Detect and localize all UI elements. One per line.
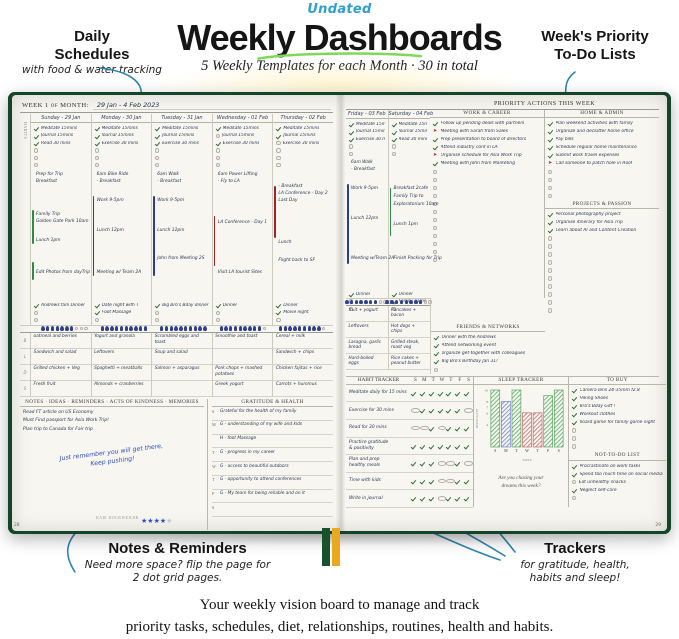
- check-icon[interactable]: [455, 461, 464, 466]
- not-to-do-item-row[interactable]: Spend too much time on social media: [572, 470, 663, 478]
- empty-circle-icon[interactable]: [276, 318, 280, 322]
- project-item-row[interactable]: [548, 266, 656, 274]
- empty-circle-icon[interactable]: [572, 480, 576, 484]
- meal-cell[interactable]: Grilled steak, roast veg: [389, 338, 431, 354]
- meal-cell[interactable]: [152, 381, 212, 397]
- habit-tracker-ticks[interactable]: [411, 391, 473, 396]
- empty-circle-icon[interactable]: [216, 311, 220, 315]
- schedule-event[interactable]: Prep for Trip: [36, 172, 63, 178]
- check-icon[interactable]: [572, 396, 577, 401]
- empty-circle-icon[interactable]: [34, 163, 38, 167]
- work-career-item-row[interactable]: Meeting with John from Marketing: [433, 160, 541, 168]
- check-icon[interactable]: [433, 121, 438, 126]
- water-drop-empty-icon[interactable]: [322, 327, 325, 331]
- day-header[interactable]: Tuesday - 31 Jan: [152, 114, 212, 123]
- schedule-event[interactable]: Lunch 12pm: [97, 228, 124, 234]
- water-drop-icon[interactable]: [129, 326, 132, 330]
- empty-circle-icon[interactable]: [548, 252, 552, 256]
- habit-row[interactable]: Exercise 30 mins: [216, 140, 270, 147]
- star-rating[interactable]: ★★★★★: [141, 508, 172, 527]
- day-schedule[interactable]: Prep for TripBreakfastFamily TripGolden …: [31, 170, 91, 301]
- to-buy-item-row[interactable]: [572, 434, 663, 442]
- check-icon[interactable]: [572, 404, 577, 409]
- empty-circle-icon[interactable]: [216, 148, 220, 152]
- water-drop-icon[interactable]: [359, 300, 362, 304]
- meal-cell[interactable]: Smoothie and toast: [213, 333, 273, 349]
- water-drop-icon[interactable]: [115, 326, 118, 330]
- project-item-row[interactable]: Learn about AI and Content Creation: [548, 226, 656, 234]
- habit-tracker-row[interactable]: Read for 30 mins: [346, 420, 473, 438]
- check-icon[interactable]: [392, 129, 397, 134]
- evening-items[interactable]: Dinner: [213, 301, 273, 325]
- empty-circle-icon[interactable]: [433, 194, 437, 198]
- habit-row[interactable]: [392, 143, 428, 150]
- empty-circle-icon[interactable]: [433, 210, 437, 214]
- schedule-event[interactable]: LA Conference - Day 2: [278, 191, 327, 197]
- water-drop-icon[interactable]: [239, 326, 242, 330]
- check-icon[interactable]: [572, 388, 577, 393]
- check-icon[interactable]: [548, 137, 553, 142]
- habit-row[interactable]: [276, 147, 330, 154]
- empty-circle-icon[interactable]: [548, 186, 552, 190]
- note-line[interactable]: Read FT article on US Economy: [23, 409, 202, 417]
- day-header[interactable]: Saturday - 04 Feb: [389, 110, 431, 119]
- check-icon[interactable]: [429, 496, 438, 501]
- not-to-do-item-row[interactable]: Neglect self-care: [572, 486, 663, 494]
- empty-circle-icon[interactable]: [572, 444, 576, 448]
- home-admin-item-row[interactable]: Submit work travel expenses: [548, 152, 656, 160]
- empty-circle-icon[interactable]: [548, 236, 552, 240]
- check-icon[interactable]: [455, 426, 464, 431]
- water-drop-icon[interactable]: [105, 326, 108, 330]
- evening-row[interactable]: [95, 316, 149, 323]
- water-drop-icon[interactable]: [179, 326, 182, 330]
- water-drop-icon[interactable]: [220, 326, 223, 330]
- day-habits[interactable]: Meditate 15minsJournal 15minsExercise 30…: [92, 123, 152, 170]
- check-icon[interactable]: [434, 343, 439, 348]
- check-icon[interactable]: [464, 443, 473, 448]
- habit-row[interactable]: Meditate 15mins: [34, 125, 88, 132]
- meal-cell[interactable]: Yogurt and granola: [92, 333, 152, 349]
- habit-tick-cell[interactable]: [464, 408, 473, 413]
- water-drop-icon[interactable]: [139, 326, 142, 330]
- water-drop-icon[interactable]: [258, 326, 261, 330]
- evening-row[interactable]: [155, 316, 209, 323]
- empty-circle-icon[interactable]: [34, 318, 38, 322]
- gratitude-row[interactable]: H - foot Massage: [212, 435, 333, 449]
- check-icon[interactable]: [464, 479, 473, 484]
- habit-tracker-ticks[interactable]: [411, 426, 473, 431]
- check-icon[interactable]: [429, 443, 438, 448]
- schedule-event[interactable]: - Breakfast: [278, 184, 302, 190]
- habit-tick-cell[interactable]: [446, 426, 455, 431]
- habit-row[interactable]: Journal 15mins: [392, 128, 428, 135]
- habit-tick-cell[interactable]: [464, 461, 473, 466]
- check-icon[interactable]: [95, 310, 100, 315]
- habit-tick-cell[interactable]: [464, 443, 473, 448]
- empty-circle-icon[interactable]: [548, 276, 552, 280]
- habit-tick-cell[interactable]: [429, 443, 438, 448]
- meal-cell[interactable]: Leftovers: [92, 349, 152, 365]
- water-tracker-row-left[interactable]: [20, 325, 333, 333]
- schedule-event[interactable]: Lunch 12pm: [157, 228, 184, 234]
- day-schedule[interactable]: 6am Bike Ride- BreakfastWork 9-5pmLunch …: [92, 170, 152, 301]
- work-career-item-row[interactable]: [433, 200, 541, 208]
- evening-row[interactable]: [155, 309, 209, 316]
- check-icon[interactable]: [392, 122, 397, 127]
- habit-row[interactable]: Journal 15mins: [276, 132, 330, 139]
- check-icon[interactable]: [411, 461, 420, 466]
- evening-row[interactable]: [34, 316, 88, 323]
- work-career-item-row[interactable]: [433, 208, 541, 216]
- project-item-row[interactable]: [548, 282, 656, 290]
- water-drop-icon[interactable]: [110, 326, 113, 330]
- evening-row[interactable]: Big Bro's Bday dinner: [155, 302, 209, 309]
- empty-circle-icon[interactable]: [216, 156, 220, 160]
- water-tracker-row-right[interactable]: [346, 298, 430, 306]
- empty-circle-icon[interactable]: [433, 234, 437, 238]
- schedule-event[interactable]: Flight back to SF: [278, 258, 315, 264]
- habit-tick-cell[interactable]: [429, 391, 438, 396]
- water-drop-icon[interactable]: [284, 326, 287, 330]
- habit-tracker-row[interactable]: Exercise for 30 mins: [346, 402, 473, 420]
- water-drop-icon[interactable]: [41, 326, 44, 330]
- habit-tick-cell[interactable]: [455, 408, 464, 413]
- meal-cell[interactable]: Grilled chicken + Veg: [31, 365, 91, 381]
- work-career-items[interactable]: Follow up pending deals with partners➤Me…: [430, 118, 544, 264]
- habit-row[interactable]: Exercise 30 mins: [276, 140, 330, 147]
- water-cell[interactable]: [349, 300, 388, 304]
- water-drop-icon[interactable]: [414, 300, 417, 304]
- work-career-item-row[interactable]: [433, 216, 541, 224]
- home-admin-item-row[interactable]: Organize and declutter home office: [548, 128, 656, 136]
- habit-row[interactable]: [216, 154, 270, 161]
- meal-cell[interactable]: Pork chops + mashed potatoes: [213, 365, 273, 381]
- day-header[interactable]: Monday - 30 Jan: [92, 114, 152, 123]
- habit-tracker-ticks[interactable]: [411, 479, 473, 484]
- forward-arrow-icon[interactable]: ➤: [433, 129, 438, 134]
- habit-row[interactable]: Read 30 mins: [392, 136, 428, 143]
- not-to-do-item-row[interactable]: Eat unhealthy snacks: [572, 478, 663, 486]
- water-drop-icon[interactable]: [198, 326, 201, 330]
- empty-circle-icon[interactable]: [216, 163, 220, 167]
- project-item-row[interactable]: Personal photography project: [548, 210, 656, 218]
- empty-circle-icon[interactable]: [548, 170, 552, 174]
- work-career-item-row[interactable]: Follow up pending deals with partners: [433, 120, 541, 128]
- meal-cell[interactable]: Carrots + hummus: [273, 381, 333, 397]
- not-to-do-item-row[interactable]: [572, 494, 663, 502]
- water-drop-icon[interactable]: [70, 326, 73, 330]
- check-icon[interactable]: [464, 391, 473, 396]
- habit-tracker-ticks[interactable]: [411, 461, 473, 466]
- check-icon[interactable]: [276, 303, 281, 308]
- check-icon[interactable]: [349, 292, 354, 297]
- evening-row[interactable]: Movie night: [276, 309, 330, 316]
- habit-row[interactable]: Journal 15mins: [349, 128, 385, 135]
- schedule-event[interactable]: Finish Packing for Trip: [394, 256, 442, 262]
- home-admin-item-row[interactable]: [548, 192, 656, 200]
- home-admin-item-row[interactable]: [548, 176, 656, 184]
- habit-tick-cell[interactable]: [464, 479, 473, 484]
- habit-row[interactable]: [276, 161, 330, 168]
- water-drop-icon[interactable]: [125, 326, 128, 330]
- water-cell[interactable]: [273, 326, 331, 330]
- check-icon[interactable]: [349, 137, 354, 142]
- empty-circle-icon[interactable]: [572, 428, 576, 432]
- check-icon[interactable]: [392, 137, 397, 142]
- empty-circle-icon[interactable]: [548, 268, 552, 272]
- evening-items[interactable]: Big Bro's Bday dinner: [152, 301, 212, 325]
- habit-row[interactable]: [276, 154, 330, 161]
- schedule-event[interactable]: Lunch: [278, 240, 291, 246]
- schedule-event[interactable]: Lunch 1pm: [36, 238, 60, 244]
- meal-cell[interactable]: Sandwich and salad: [31, 349, 91, 365]
- water-drop-empty-icon[interactable]: [424, 300, 427, 304]
- gratitude-row[interactable]: SGrateful for the health of my family: [212, 407, 333, 421]
- habit-row[interactable]: Journal 15mins: [34, 132, 88, 139]
- water-cell[interactable]: [389, 300, 428, 304]
- note-line[interactable]: Plan trip to Canada for Fair trip: [23, 426, 202, 434]
- schedule-event[interactable]: 6am Bike Ride: [97, 172, 129, 178]
- empty-circle-icon[interactable]: [95, 148, 99, 152]
- water-drop-icon[interactable]: [374, 300, 377, 304]
- habit-tick-cell[interactable]: [420, 479, 429, 484]
- day-schedule[interactable]: 6am Walk- BreakfastWork 9-5pmLunch 12pmM…: [346, 158, 388, 289]
- habit-row[interactable]: Read 30 mins: [34, 140, 88, 147]
- meal-cell[interactable]: Almonds + cranberries: [92, 381, 152, 397]
- friends-item-row[interactable]: Dinner with the Andrews: [434, 334, 542, 342]
- check-icon[interactable]: [155, 303, 160, 308]
- water-drop-icon[interactable]: [409, 300, 412, 304]
- habit-tick-cell[interactable]: [411, 443, 420, 448]
- check-icon[interactable]: [155, 133, 160, 138]
- habit-row[interactable]: Meditate 15mins: [349, 121, 385, 128]
- check-icon[interactable]: [572, 412, 577, 417]
- evening-row[interactable]: Dinner: [216, 302, 270, 309]
- water-drop-icon[interactable]: [405, 300, 408, 304]
- empty-circle-icon[interactable]: [433, 170, 437, 174]
- check-icon[interactable]: [446, 426, 455, 431]
- check-icon[interactable]: [429, 391, 438, 396]
- empty-circle-icon[interactable]: [155, 156, 159, 160]
- forward-arrow-icon[interactable]: ➤: [433, 153, 438, 158]
- work-career-item-row[interactable]: [433, 248, 541, 256]
- to-buy-items[interactable]: Camera lens 24-35mm f2.8Hiking ShoesBro'…: [569, 385, 666, 451]
- water-cell[interactable]: [214, 326, 272, 330]
- work-career-item-row[interactable]: ➤Organise schedule for Asia Work Trip: [433, 152, 541, 160]
- meal-cell[interactable]: Scrambled eggs and toast: [152, 333, 212, 349]
- day-schedule[interactable]: - BreakfastLA Conference - Day 2Last Day…: [273, 170, 333, 301]
- habit-tick-cell[interactable]: [438, 479, 447, 484]
- check-icon[interactable]: [392, 292, 397, 297]
- empty-circle-icon[interactable]: [392, 152, 396, 156]
- empty-circle-icon[interactable]: [95, 156, 99, 160]
- water-drop-icon[interactable]: [308, 326, 311, 330]
- check-icon[interactable]: [216, 303, 221, 308]
- day-schedule[interactable]: Breakfast 2cafeFamily Trip toExploratori…: [389, 158, 431, 289]
- meal-cell[interactable]: oatmeal and berries: [31, 333, 91, 349]
- empty-circle-icon[interactable]: [548, 244, 552, 248]
- check-icon[interactable]: [34, 133, 39, 138]
- gratitude-row[interactable]: TG - opportunity to attend conferences: [212, 476, 333, 490]
- habit-tick-cell[interactable]: [420, 443, 429, 448]
- day-schedule[interactable]: 6am Power Lifting- Fly to LALA Conferenc…: [213, 170, 273, 301]
- habit-tick-cell[interactable]: [411, 408, 420, 413]
- habit-row[interactable]: Exercise 30 mins: [95, 140, 149, 147]
- evening-row[interactable]: [216, 316, 270, 323]
- meal-cell[interactable]: Sandwich + chips: [273, 349, 333, 365]
- schedule-event[interactable]: 6am Walk: [157, 172, 179, 178]
- habit-tick-cell[interactable]: [429, 479, 438, 484]
- schedule-event[interactable]: Family Trip to: [394, 194, 424, 200]
- empty-circle-icon[interactable]: [548, 292, 552, 296]
- work-career-item-row[interactable]: [433, 192, 541, 200]
- empty-circle-icon[interactable]: [34, 148, 38, 152]
- meal-cell[interactable]: Chicken fajitas + rice: [273, 365, 333, 381]
- water-drop-icon[interactable]: [65, 326, 68, 330]
- habit-row[interactable]: [349, 150, 385, 157]
- project-item-row[interactable]: [548, 250, 656, 258]
- check-icon[interactable]: [95, 126, 100, 131]
- habit-row[interactable]: Meditate 15mins: [276, 125, 330, 132]
- to-buy-item-row[interactable]: [572, 426, 663, 434]
- habit-row[interactable]: [155, 147, 209, 154]
- gratitude-row[interactable]: TG - progress in my career: [212, 448, 333, 462]
- day-habits[interactable]: Meditate 15minsJournal 15minsRead 30 min…: [389, 119, 431, 158]
- habit-row[interactable]: Journal 15mins: [95, 132, 149, 139]
- habit-row[interactable]: [155, 154, 209, 161]
- work-career-item-row[interactable]: Prep presentation to board of directors: [433, 136, 541, 144]
- day-header[interactable]: Wednesday - 01 Feb: [213, 114, 273, 123]
- home-admin-item-row[interactable]: [548, 168, 656, 176]
- schedule-event[interactable]: Meeting w/ Team 2A: [97, 270, 142, 276]
- habit-tick-cell[interactable]: [420, 496, 429, 501]
- check-icon[interactable]: [433, 137, 438, 142]
- evening-row[interactable]: Dinner: [392, 290, 428, 297]
- habit-row[interactable]: [392, 150, 428, 157]
- habit-tracker-rows[interactable]: Meditate daily for 15 minsExercise for 3…: [346, 385, 473, 508]
- meal-cell[interactable]: Lasagna, garlic bread: [346, 338, 388, 354]
- habit-tracker-ticks[interactable]: [411, 408, 473, 413]
- check-icon[interactable]: [95, 133, 100, 138]
- empty-circle-icon[interactable]: [95, 318, 99, 322]
- friends-item-row[interactable]: Attend networking event: [434, 342, 542, 350]
- day-header[interactable]: Thursday - 02 Feb: [273, 114, 333, 123]
- habit-row[interactable]: [216, 161, 270, 168]
- check-icon[interactable]: [572, 488, 577, 493]
- home-admin-item-row[interactable]: ➤Call someone to patch hole in Roof: [548, 160, 656, 168]
- empty-circle-icon[interactable]: [433, 218, 437, 222]
- schedule-event[interactable]: Golden Gate Park 10am: [36, 219, 89, 225]
- project-item-row[interactable]: Organise itinerary for Asia Trip: [548, 218, 656, 226]
- water-drop-empty-icon[interactable]: [263, 327, 266, 331]
- habit-tick-cell[interactable]: [464, 391, 473, 396]
- water-drop-icon[interactable]: [288, 326, 291, 330]
- water-drop-icon[interactable]: [298, 326, 301, 330]
- empty-circle-icon[interactable]: [276, 141, 280, 145]
- empty-circle-icon[interactable]: [464, 461, 473, 465]
- to-buy-item-row[interactable]: [572, 442, 663, 450]
- habit-tick-cell[interactable]: [411, 496, 420, 501]
- work-career-item-row[interactable]: ➤Meeting with Sarah from Sales: [433, 128, 541, 136]
- meal-cell[interactable]: Greek yogurt: [213, 381, 273, 397]
- water-drop-icon[interactable]: [120, 326, 123, 330]
- schedule-event[interactable]: Lunch 12pm: [351, 216, 378, 222]
- habit-tick-cell[interactable]: [429, 408, 438, 413]
- gratitude-text[interactable]: H - foot Massage: [220, 436, 256, 442]
- empty-circle-icon[interactable]: [155, 163, 159, 167]
- schedule-event[interactable]: - Breakfast: [351, 167, 375, 173]
- habit-row[interactable]: Meditate 15mins: [216, 125, 270, 132]
- habit-tick-cell[interactable]: [455, 391, 464, 396]
- schedule-event[interactable]: Last Day: [278, 198, 297, 204]
- gratitude-text[interactable]: Grateful for the health of my family: [220, 409, 296, 415]
- check-icon[interactable]: [276, 126, 281, 131]
- project-item-row[interactable]: [548, 258, 656, 266]
- check-icon[interactable]: [155, 141, 160, 146]
- check-icon[interactable]: [572, 472, 577, 477]
- check-icon[interactable]: [420, 461, 429, 466]
- water-drop-icon[interactable]: [189, 326, 192, 330]
- empty-circle-icon[interactable]: [349, 152, 353, 156]
- to-buy-item-row[interactable]: Workout clothes: [572, 410, 663, 418]
- habit-row[interactable]: Meditate 15mins: [392, 121, 428, 128]
- habit-tick-cell[interactable]: [429, 426, 438, 431]
- check-icon[interactable]: [420, 391, 429, 396]
- empty-circle-icon[interactable]: [572, 496, 576, 500]
- habit-tick-cell[interactable]: [438, 461, 447, 466]
- meal-cell[interactable]: Soup and salad: [152, 349, 212, 365]
- check-icon[interactable]: [464, 426, 473, 431]
- gratitude-row[interactable]: FG - My team for being reliable and on i…: [212, 490, 333, 504]
- home-admin-item-row[interactable]: [548, 184, 656, 192]
- friends-item-row[interactable]: [434, 366, 542, 374]
- check-icon[interactable]: [455, 479, 464, 484]
- schedule-event[interactable]: Breakfast: [36, 179, 57, 185]
- empty-circle-icon[interactable]: [95, 163, 99, 167]
- meal-cell[interactable]: fruit + yogurt: [346, 306, 388, 322]
- empty-circle-icon[interactable]: [548, 178, 552, 182]
- habit-row[interactable]: [34, 147, 88, 154]
- check-icon[interactable]: [349, 129, 354, 134]
- project-item-row[interactable]: [548, 274, 656, 282]
- schedule-event[interactable]: Lunch 1pm: [394, 222, 418, 228]
- habit-tick-cell[interactable]: [455, 479, 464, 484]
- week-value[interactable]: 29 Jan - 4 Feb 2023: [93, 101, 331, 110]
- habit-tracker-row[interactable]: Plan and prep healthy meals: [346, 455, 473, 473]
- habit-row[interactable]: [216, 147, 270, 154]
- habit-tick-cell[interactable]: [411, 426, 420, 431]
- check-icon[interactable]: [455, 391, 464, 396]
- empty-circle-icon[interactable]: [155, 311, 159, 315]
- check-icon[interactable]: [411, 496, 420, 501]
- habit-tick-cell[interactable]: [429, 461, 438, 466]
- check-icon[interactable]: [429, 426, 438, 431]
- empty-circle-icon[interactable]: [433, 242, 437, 246]
- habit-row[interactable]: Journal 15mins: [155, 132, 209, 139]
- check-icon[interactable]: [548, 129, 553, 134]
- home-admin-item-row[interactable]: Schedule regular home maintenance: [548, 144, 656, 152]
- schedule-event[interactable]: Edit Photos from dayTrip: [36, 270, 90, 276]
- water-drop-icon[interactable]: [279, 326, 282, 330]
- gratitude-row[interactable]: MG - understanding of my wife and kids: [212, 421, 333, 435]
- empty-circle-icon[interactable]: [420, 426, 429, 430]
- to-buy-item-row[interactable]: board game for family game night: [572, 418, 663, 426]
- empty-circle-icon[interactable]: [548, 284, 552, 288]
- empty-circle-icon[interactable]: [392, 144, 396, 148]
- empty-circle-icon[interactable]: [276, 163, 280, 167]
- water-drop-icon[interactable]: [355, 300, 358, 304]
